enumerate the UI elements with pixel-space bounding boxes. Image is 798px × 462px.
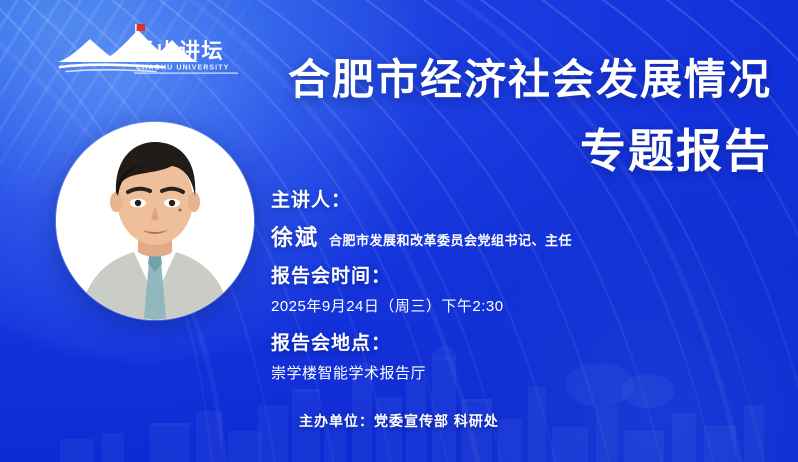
event-poster: 汤山讲坛 CHAOHU UNIVERSITY 合肥市经济社会发展情况 专题报告 [0, 0, 798, 462]
speaker-title: 合肥市发展和改革委员会党组书记、主任 [329, 230, 572, 249]
speaker-name: 徐斌 [271, 220, 319, 252]
speaker-label: 主讲人： [271, 188, 572, 214]
title-line-1: 合肥市经济社会发展情况 [0, 55, 772, 105]
time-value: 2025年9月24日（周三）下午2:30 [271, 296, 572, 318]
time-label: 报告会时间： [271, 264, 572, 290]
speaker-portrait [56, 122, 254, 320]
place-value: 崇学楼智能学术报告厅 [271, 363, 572, 385]
event-details: 主讲人： 徐斌 合肥市发展和改革委员会党组书记、主任 报告会时间： 2025年9… [271, 188, 572, 398]
place-label: 报告会地点： [271, 331, 572, 357]
organizer-footer: 主办单位：党委宣传部 科研处 [0, 411, 798, 431]
speaker-row: 徐斌 合肥市发展和改革委员会党组书记、主任 [271, 220, 572, 252]
